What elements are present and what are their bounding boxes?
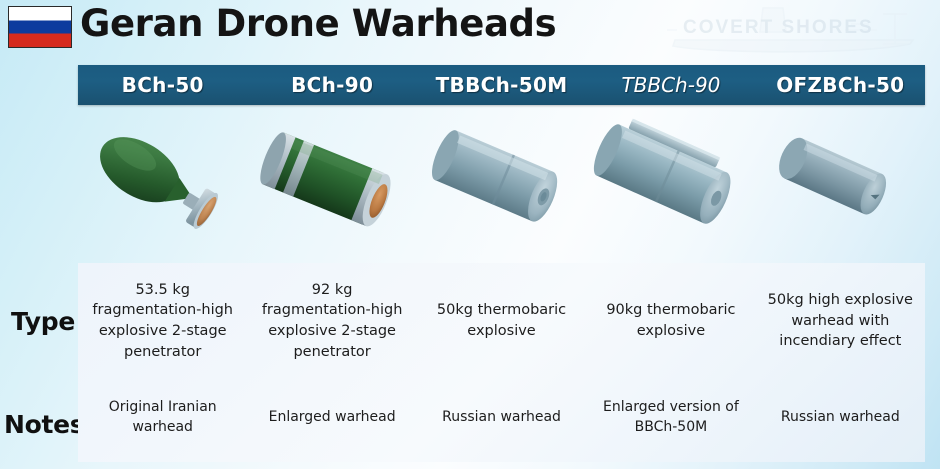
submarine-silhouette-icon <box>655 0 940 60</box>
cell-notes-bch-90: Enlarged warhead <box>247 383 416 453</box>
cell-notes-bch-50: Original Iranian warhead <box>78 383 247 453</box>
warhead-image-tbbch-50m <box>417 106 586 261</box>
russian-flag-icon <box>8 6 72 48</box>
slide-root: COVERT SHORES www.hisutton.com Geran Dro… <box>0 0 940 469</box>
table-row-notes: Original Iranian warhead Enlarged warhea… <box>78 383 925 453</box>
column-header-ofzbch-50[interactable]: OFZBCh-50 <box>756 65 925 105</box>
banded-cylinder-penetrator-warhead-icon <box>247 106 416 261</box>
column-header-tbbch-90[interactable]: TBBCh-90 <box>586 65 755 105</box>
metal-cylinder-warhead-icon <box>417 106 586 261</box>
column-header-tbbch-50m[interactable]: TBBCh-50M <box>417 65 586 105</box>
row-label-notes: Notes <box>4 410 84 439</box>
column-header-bch-90[interactable]: BCh-90 <box>247 65 416 105</box>
teardrop-penetrator-warhead-icon <box>78 106 247 261</box>
warhead-image-tbbch-90 <box>586 106 755 261</box>
column-header-bch-50[interactable]: BCh-50 <box>78 65 247 105</box>
cell-notes-tbbch-50m: Russian warhead <box>417 383 586 453</box>
page-title: Geran Drone Warheads <box>80 2 556 45</box>
warhead-image-ofzbch-50 <box>756 106 925 261</box>
table-header-row: BCh-50 BCh-90 TBBCh-50M TBBCh-90 OFZBCh-… <box>78 65 925 105</box>
warhead-image-bch-90 <box>247 106 416 261</box>
warhead-image-strip <box>78 106 925 261</box>
cell-type-tbbch-50m: 50kg thermobaric explosive <box>417 269 586 373</box>
warhead-image-bch-50 <box>78 106 247 261</box>
row-label-type: Type <box>11 307 75 336</box>
cell-type-tbbch-90: 90kg thermobaric explosive <box>586 269 755 373</box>
cell-notes-ofzbch-50: Russian warhead <box>756 383 925 453</box>
cell-notes-tbbch-90: Enlarged version of BBCh-50M <box>586 383 755 453</box>
cell-type-ofzbch-50: 50kg high explosive warhead with incendi… <box>756 269 925 373</box>
small-capsule-warhead-icon <box>756 106 925 261</box>
watermark-text: COVERT SHORES <box>683 17 874 39</box>
cell-type-bch-50: 53.5 kg fragmentation-high explosive 2-s… <box>78 269 247 373</box>
long-railed-cylinder-warhead-icon <box>586 106 755 261</box>
table-row-type: 53.5 kg fragmentation-high explosive 2-s… <box>78 269 925 373</box>
cell-type-bch-90: 92 kg fragmentation-high explosive 2-sta… <box>247 269 416 373</box>
data-panel: 53.5 kg fragmentation-high explosive 2-s… <box>78 263 925 462</box>
watermark: COVERT SHORES www.hisutton.com <box>655 0 940 60</box>
